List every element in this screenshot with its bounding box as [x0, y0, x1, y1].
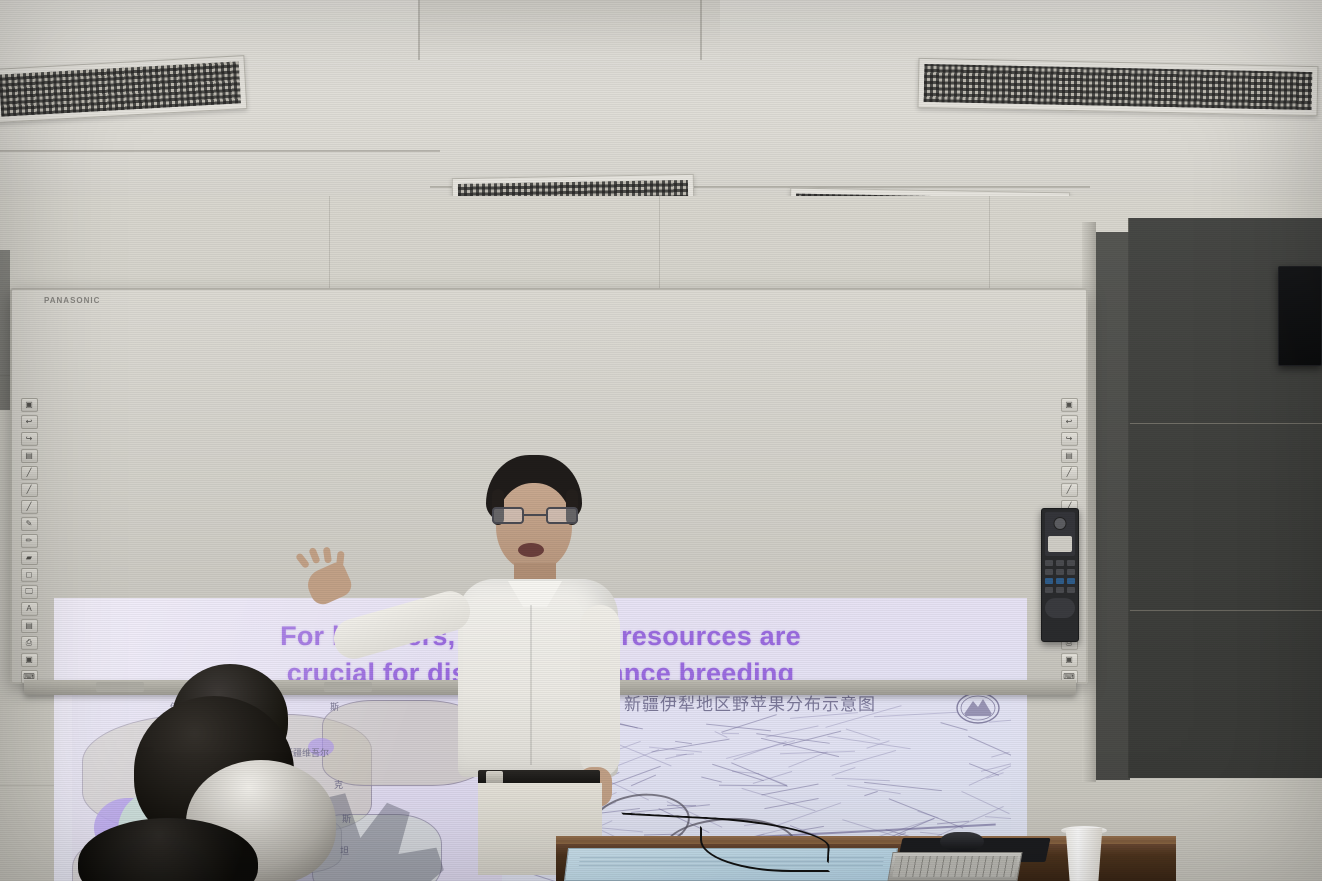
- control-panel-buttons[interactable]: [1045, 560, 1075, 593]
- control-button[interactable]: [1045, 569, 1053, 575]
- control-button[interactable]: [1056, 578, 1064, 584]
- wall-edge-left: [0, 250, 10, 410]
- control-button[interactable]: [1045, 587, 1053, 593]
- monitor-icon[interactable]: 🖵: [21, 585, 38, 599]
- map-contour-line: [701, 776, 722, 782]
- camera-icon[interactable]: ▣: [21, 653, 38, 667]
- control-button[interactable]: [1056, 560, 1064, 566]
- marker-icon[interactable]: ✏: [21, 534, 38, 548]
- redo-tool-icon[interactable]: ↪: [21, 432, 38, 446]
- map-contour-line: [839, 750, 895, 767]
- pen-thick-icon[interactable]: ╱: [21, 500, 38, 514]
- map-contour-line: [962, 791, 1010, 814]
- save-tool-icon[interactable]: ▤: [21, 449, 38, 463]
- highlighter-icon[interactable]: ✎: [21, 517, 38, 531]
- control-button[interactable]: [1045, 578, 1053, 584]
- select-tool-icon[interactable]: ▣: [1061, 398, 1078, 412]
- whiteboard-toolbar-left[interactable]: ▣↩↪▤╱╱╱✎✏▰◻🖵A▤⎙▣⌨: [18, 398, 40, 684]
- control-panel-dial[interactable]: [1045, 598, 1075, 618]
- map-contour-line: [789, 752, 828, 768]
- whiteboard-brand-label: PANASONIC: [44, 296, 100, 305]
- touch-pad-icon[interactable]: [1048, 536, 1072, 552]
- vent-grille: [924, 64, 1313, 110]
- pen-thin-icon[interactable]: ╱: [1061, 466, 1078, 480]
- map-contour-line: [765, 725, 818, 737]
- acoustic-panel-edge: [1090, 232, 1130, 780]
- print-icon[interactable]: ⎙: [21, 636, 38, 650]
- wall-speaker: [1278, 266, 1322, 366]
- glasses-lens-right: [546, 507, 578, 524]
- camera-icon[interactable]: ▣: [1061, 653, 1078, 667]
- computer-mouse[interactable]: [940, 832, 984, 851]
- map-contour-line: [917, 811, 938, 819]
- text-tool-icon[interactable]: A: [21, 602, 38, 616]
- map-contour-line: [722, 733, 739, 734]
- shirt-placket: [530, 605, 532, 765]
- control-button[interactable]: [1067, 578, 1075, 584]
- presenter-face: [496, 483, 572, 571]
- pen-thin-icon[interactable]: ╱: [21, 466, 38, 480]
- paper-cup[interactable]: [1064, 828, 1104, 881]
- map-contour-line: [864, 791, 878, 796]
- control-button[interactable]: [1045, 560, 1053, 566]
- control-button[interactable]: [1067, 569, 1075, 575]
- presenter-right-arm: [580, 605, 620, 777]
- pen-medium-icon[interactable]: ╱: [21, 483, 38, 497]
- pen-medium-icon[interactable]: ╱: [1061, 483, 1078, 497]
- glasses-bridge: [524, 514, 546, 516]
- ceiling-seam: [0, 150, 440, 152]
- classroom-photo: PANASONIC ▣↩↪▤╱╱╱✎✏▰◻🖵A▤⎙▣⌨ ▣↩↪▤╱╱╱✎✏▰◻🖵…: [0, 0, 1322, 881]
- wall-control-panel[interactable]: [1041, 508, 1079, 642]
- ceiling-seam: [700, 0, 702, 60]
- control-panel-top[interactable]: [1045, 512, 1075, 556]
- presenter-mouth: [518, 543, 544, 557]
- map-contour-line: [774, 803, 842, 828]
- ceiling-vent-left: [0, 55, 247, 123]
- map-contour-line: [734, 741, 787, 760]
- ceiling-seam: [418, 0, 420, 60]
- map-contour-line: [831, 767, 855, 776]
- control-button[interactable]: [1056, 569, 1064, 575]
- map-contour-line: [835, 778, 890, 782]
- control-button[interactable]: [1067, 587, 1075, 593]
- undo-tool-icon[interactable]: ↩: [21, 415, 38, 429]
- ceiling-vent-right: [918, 58, 1319, 116]
- map-contour-line: [675, 741, 692, 744]
- select-tool-icon[interactable]: ▣: [21, 398, 38, 412]
- ceiling-recess: [420, 0, 720, 60]
- undo-tool-icon[interactable]: ↩: [1061, 415, 1078, 429]
- glasses-lens-left: [492, 507, 524, 524]
- power-knob-icon[interactable]: [1054, 517, 1067, 530]
- map-contour-line: [676, 754, 694, 756]
- shape-tool-icon[interactable]: ◻: [21, 568, 38, 582]
- laptop-keyboard[interactable]: [887, 852, 1022, 881]
- map-contour-line: [874, 712, 958, 717]
- vent-grille: [0, 61, 241, 116]
- ceiling: [0, 0, 1322, 196]
- save-tool-icon[interactable]: ▤: [1061, 449, 1078, 463]
- presenter-glasses: [492, 507, 578, 524]
- control-button[interactable]: [1067, 560, 1075, 566]
- map-region-label: 克: [334, 778, 343, 791]
- redo-tool-icon[interactable]: ↪: [1061, 432, 1078, 446]
- map-contour-line: [968, 764, 998, 777]
- map-region-label: 斯: [330, 700, 339, 713]
- map-contour-line: [985, 816, 1011, 821]
- map-contour-line: [719, 785, 787, 787]
- eraser-icon[interactable]: ▰: [21, 551, 38, 565]
- map-contour-line: [969, 759, 1011, 786]
- page-icon[interactable]: ▤: [21, 619, 38, 633]
- control-button[interactable]: [1056, 587, 1064, 593]
- map-contour-line: [968, 736, 1011, 767]
